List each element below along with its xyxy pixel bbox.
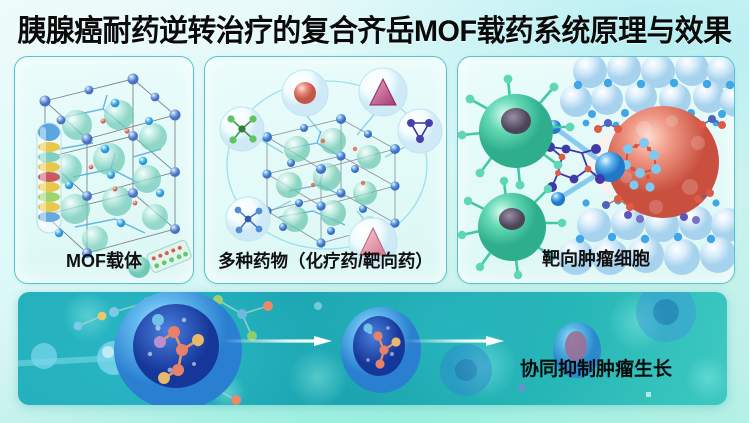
magenta-triangle-bubble <box>359 68 407 116</box>
arrow-stage-1-to-2 <box>222 336 332 346</box>
panel-mof-carrier: MOF载体 <box>14 56 194 284</box>
banner-caption: 协同抑制肿瘤生长 <box>520 354 672 381</box>
capsule-stack <box>37 123 61 233</box>
blue-molecule-bubble <box>226 197 270 241</box>
panel-target-caption: 靶向肿瘤细胞 <box>458 245 734 271</box>
large-tumor-cell <box>114 292 242 405</box>
panel-drugs-caption: 多种药物（化疗药/靶向药） <box>205 248 446 273</box>
arrow-stage-2-to-3 <box>404 336 504 346</box>
panel-multi-drugs: 多种药物（化疗药/靶向药） <box>204 56 447 284</box>
panel-mof-caption: MOF载体 <box>15 247 193 273</box>
medium-tumor-cell <box>341 307 421 393</box>
green-molecule-bubble <box>220 107 264 151</box>
panel-target-tumor-cell: 靶向肿瘤细胞 <box>457 56 735 284</box>
red-sphere-bubble <box>282 70 328 116</box>
banner-tumor-shrinking: 协同抑制肿瘤生长 <box>18 292 727 405</box>
purple-molecule-bubble <box>398 109 442 153</box>
page-title: 胰腺癌耐药逆转治疗的复合齐岳MOF载药系统原理与效果 <box>15 6 734 50</box>
